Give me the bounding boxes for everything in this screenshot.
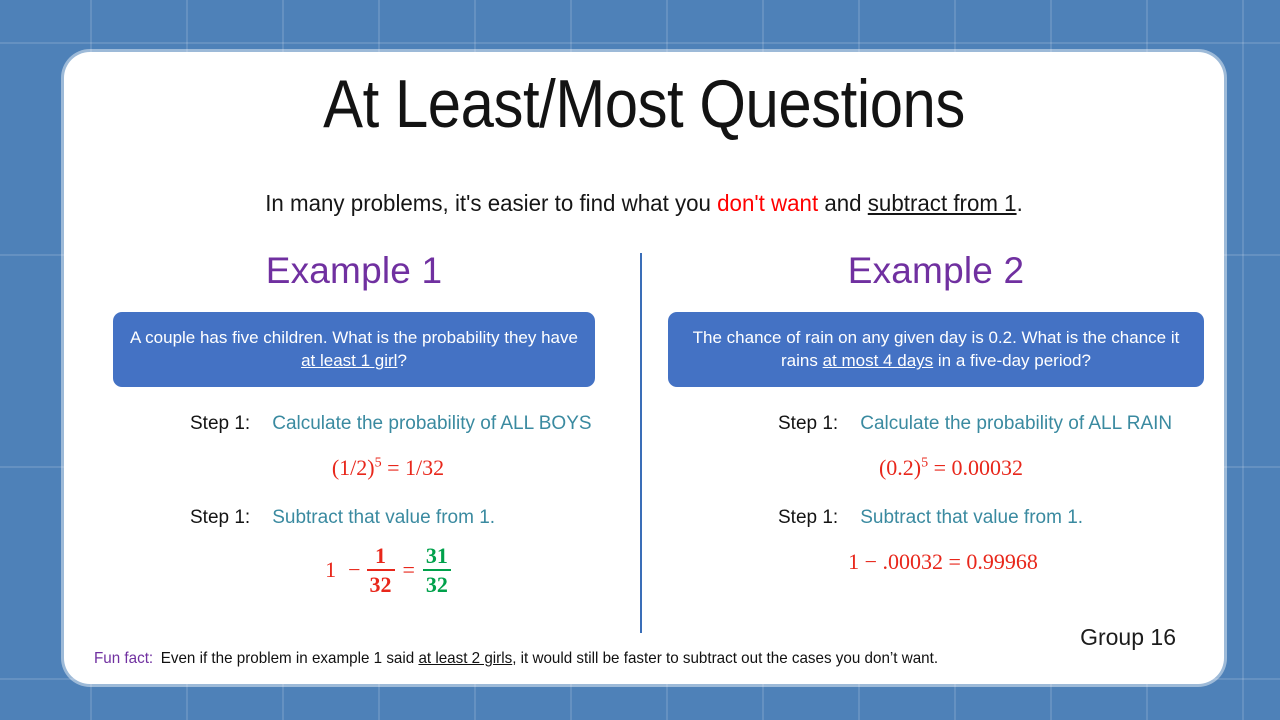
example-2-step-2-label: Step 1: — [778, 507, 838, 529]
equation-2-operator: − — [348, 557, 360, 583]
fun-fact-trail-text: , it would still be faster to subtract o… — [512, 650, 938, 667]
column-divider — [640, 253, 642, 633]
example-2-heading: Example 2 — [656, 248, 1216, 300]
page-title: At Least/Most Questions — [134, 70, 1155, 138]
example-2-step-2-row: Step 1: Subtract that value from 1. — [656, 507, 1216, 529]
equation-2-right-numerator: 31 — [423, 544, 451, 567]
example-1-step-1-description: Calculate the probability of ALL BOYS — [272, 413, 591, 435]
example-2-problem-box: The chance of rain on any given day is 0… — [668, 312, 1204, 387]
subtitle-highlight-text: don't want — [717, 190, 818, 216]
equation-2-equals-sign: = — [403, 557, 415, 583]
equation-2-left-denominator: 32 — [367, 573, 395, 596]
equation-1-base: (1/2) — [332, 455, 375, 480]
equation-2-right-denominator: 32 — [423, 573, 451, 596]
equation-2-left-fraction: 1 32 — [367, 544, 395, 596]
equation-3-rest: = 0.00032 — [928, 455, 1023, 480]
equation-2-right-fraction: 31 32 — [423, 544, 451, 596]
fun-fact-underlined-text: at least 2 girls — [418, 650, 512, 667]
subtitle-lead-text: In many problems, it's easier to find wh… — [265, 190, 717, 216]
fun-fact-note: Fun fact:Even if the problem in example … — [94, 650, 1139, 668]
equation-1-exponent: 5 — [375, 456, 382, 471]
example-2-step-1-label: Step 1: — [778, 413, 838, 435]
example-1-step-1-row: Step 1: Calculate the probability of ALL… — [74, 413, 634, 435]
equation-2-left-fraction-bar — [367, 569, 395, 571]
problem-2-underlined-text: at most 4 days — [823, 351, 934, 370]
fun-fact-lead-text: Even if the problem in example 1 said — [161, 650, 419, 667]
example-1-problem-box: A couple has five children. What is the … — [113, 312, 595, 387]
equation-1-rest: = 1/32 — [382, 455, 445, 480]
example-1-equation-2: 1 − 1 32 = 31 32 — [74, 541, 634, 599]
equation-2-left-numerator: 1 — [372, 544, 389, 567]
example-column-1: Example 1 A couple has five children. Wh… — [74, 248, 634, 599]
example-2-equation-2: 1 − .00032 = 0.99968 — [656, 549, 1216, 575]
subtitle-underlined-text: subtract from 1 — [868, 190, 1017, 216]
subtitle-trail-text: . — [1017, 190, 1023, 216]
slide-subtitle: In many problems, it's easier to find wh… — [81, 190, 1206, 217]
subtitle-middle-text: and — [818, 190, 868, 216]
example-1-equation-1: (1/2)5 = 1/32 — [74, 455, 634, 481]
group-label: Group 16 — [1080, 624, 1176, 651]
example-2-step-2-description: Subtract that value from 1. — [860, 507, 1083, 529]
example-column-2: Example 2 The chance of rain on any give… — [656, 248, 1216, 575]
example-1-heading: Example 1 — [74, 248, 634, 300]
problem-1-lead-text: A couple has five children. What is the … — [130, 328, 578, 347]
equation-2-left-whole: 1 — [325, 557, 336, 583]
example-1-step-2-label: Step 1: — [190, 507, 250, 529]
equation-2-right-fraction-bar — [423, 569, 451, 571]
equation-3-base: (0.2) — [879, 455, 921, 480]
content-card: At Least/Most Questions In many problems… — [64, 52, 1224, 684]
example-1-step-1-label: Step 1: — [190, 413, 250, 435]
example-1-step-2-description: Subtract that value from 1. — [272, 507, 495, 529]
example-2-step-1-description: Calculate the probability of ALL RAIN — [860, 413, 1172, 435]
fun-fact-label: Fun fact: — [94, 650, 153, 667]
problem-1-trail-text: ? — [397, 351, 406, 370]
example-2-equation-1: (0.2)5 = 0.00032 — [656, 455, 1216, 481]
example-2-step-1-row: Step 1: Calculate the probability of ALL… — [656, 413, 1216, 435]
example-1-step-2-row: Step 1: Subtract that value from 1. — [74, 507, 634, 529]
problem-2-trail-text: in a five-day period? — [933, 351, 1091, 370]
problem-1-underlined-text: at least 1 girl — [301, 351, 397, 370]
